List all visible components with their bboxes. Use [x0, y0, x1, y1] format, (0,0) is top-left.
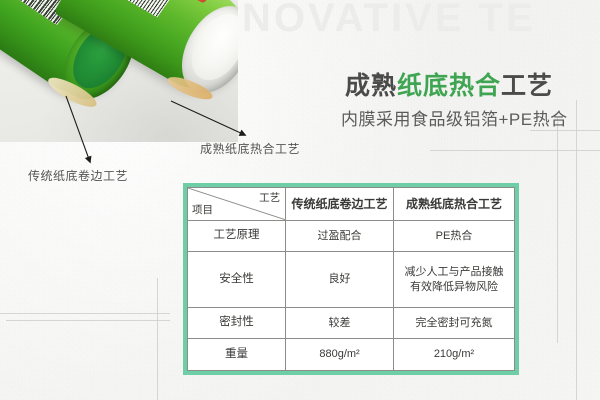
corner-label-process: 工艺 [259, 191, 280, 205]
table-row: 密封性 较差 完全密封可充氮 [188, 307, 515, 339]
decorative-horizontal-line-1 [0, 313, 170, 314]
comparison-table: 工艺 项目 传统纸底卷边工艺 成熟纸底热合工艺 工艺原理 过盈配合 PE热合 安… [187, 187, 515, 371]
caption-heatseal: 成熟纸底热合工艺 [200, 140, 300, 157]
corner-diagonal-cell: 工艺 项目 [188, 188, 286, 221]
row-label-principle: 工艺原理 [188, 220, 286, 252]
decorative-vertical-line-3 [157, 278, 158, 400]
table-row: 安全性 良好 减少人工与产品接触 有效降低异物风险 [188, 252, 515, 308]
cell-mature-sealing: 完全密封可充氮 [394, 307, 515, 339]
decorative-horizontal-line-3 [430, 150, 600, 151]
sub-heading: 内膜采用食品级铝箔+PE热合 [341, 105, 568, 130]
cell-traditional-principle: 过盈配合 [286, 220, 394, 252]
cell-mature-safety-line2: 有效降低异物风险 [396, 280, 512, 295]
main-heading: 成熟纸底热合工艺 [345, 66, 553, 102]
table-row: 工艺原理 过盈配合 PE热合 [188, 220, 515, 252]
product-photo [0, 0, 238, 142]
decorative-vertical-line-2 [576, 100, 577, 400]
cell-traditional-safety: 良好 [286, 252, 394, 308]
cell-traditional-weight: 880g/m² [286, 339, 394, 371]
row-label-weight: 重量 [188, 339, 286, 371]
cell-mature-weight: 210g/m² [394, 339, 515, 371]
comparison-table-frame: 工艺 项目 传统纸底卷边工艺 成熟纸底热合工艺 工艺原理 过盈配合 PE热合 安… [183, 183, 519, 375]
row-label-safety: 安全性 [188, 252, 286, 308]
heading-suffix: 工艺 [501, 72, 553, 100]
background-watermark-text: INNOVATIVE TE [196, 0, 536, 41]
corner-label-item: 项目 [192, 203, 213, 217]
table-row: 重量 880g/m² 210g/m² [188, 339, 515, 371]
barcode-icon [83, 0, 183, 17]
header-mature: 成熟纸底热合工艺 [394, 188, 515, 221]
cell-mature-safety-line1: 减少人工与产品接触 [396, 265, 512, 280]
label-red-accent [182, 0, 211, 4]
decorative-horizontal-line-2 [6, 320, 170, 321]
cell-mature-principle: PE热合 [394, 220, 515, 252]
table-header-row: 工艺 项目 传统纸底卷边工艺 成熟纸底热合工艺 [188, 188, 515, 221]
decorative-vertical-line-1 [557, 118, 558, 343]
cell-mature-safety: 减少人工与产品接触 有效降低异物风险 [394, 252, 515, 308]
row-label-sealing: 密封性 [188, 307, 286, 339]
heading-highlight: 纸底热合 [397, 72, 501, 100]
caption-traditional: 传统纸底卷边工艺 [28, 167, 128, 184]
header-traditional: 传统纸底卷边工艺 [286, 188, 394, 221]
slide-canvas: INNOVATIVE TE 传统纸底卷 [0, 0, 600, 400]
heading-prefix: 成熟 [345, 72, 397, 100]
cell-traditional-sealing: 较差 [286, 307, 394, 339]
decorative-horizontal-line-4 [530, 130, 600, 131]
